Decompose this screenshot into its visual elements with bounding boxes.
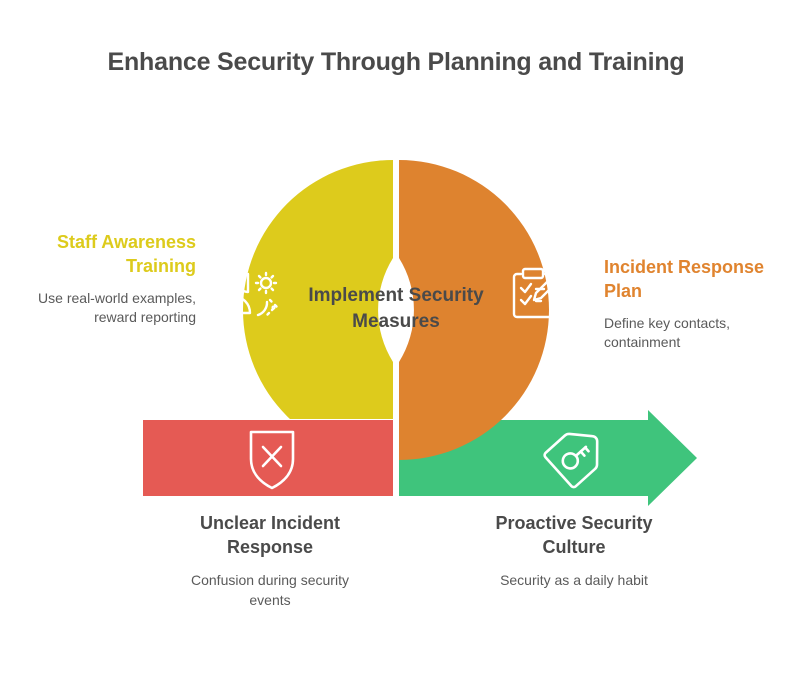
label-block-incident-response-plan[interactable]: Incident Response Plan Define key contac… <box>604 256 784 352</box>
infographic-diagram: Implement Security Measures Staff Awaren… <box>0 0 792 684</box>
label-title-staff-awareness-training: Staff Awareness Training <box>20 231 196 279</box>
center-label: Implement Security Measures <box>281 283 511 334</box>
label-desc-incident-response-plan: Define key contacts, containment <box>604 314 784 353</box>
label-title-incident-response-plan: Incident Response Plan <box>604 256 784 304</box>
label-block-unclear-incident-response[interactable]: Unclear Incident Response Confusion duri… <box>178 511 362 610</box>
label-title-unclear-incident-response: Unclear Incident Response <box>178 511 362 559</box>
label-desc-proactive-security-culture: Security as a daily habit <box>482 571 666 590</box>
label-title-proactive-security-culture: Proactive Security Culture <box>482 511 666 559</box>
label-desc-staff-awareness-training: Use real-world examples, reward reportin… <box>20 289 196 328</box>
label-block-staff-awareness-training[interactable]: Staff Awareness Training Use real-world … <box>20 231 196 327</box>
label-block-proactive-security-culture[interactable]: Proactive Security Culture Security as a… <box>482 511 666 591</box>
label-desc-unclear-incident-response: Confusion during security events <box>178 571 362 610</box>
